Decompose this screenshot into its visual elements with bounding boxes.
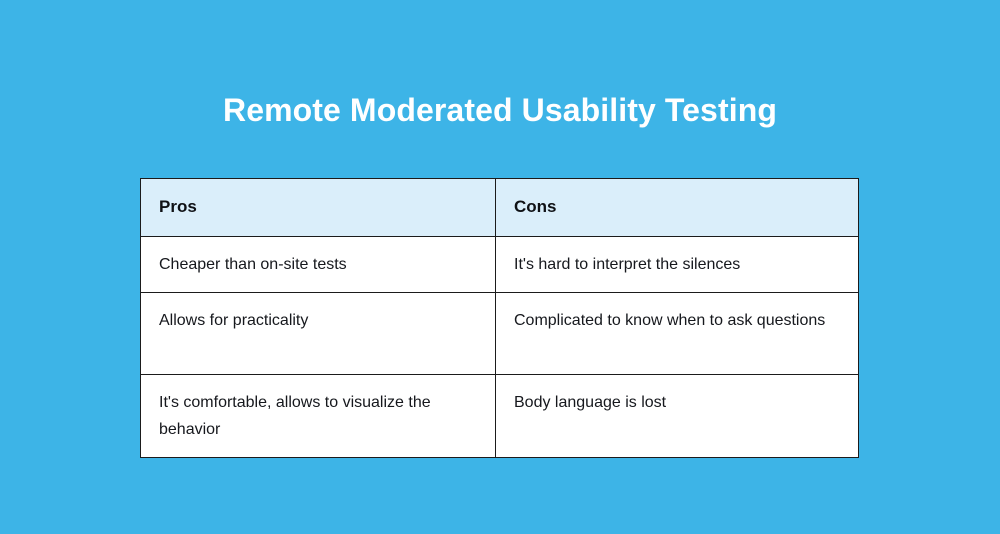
slide-canvas: Remote Moderated Usability Testing Pros …: [0, 0, 1000, 534]
table-header: Pros Cons: [141, 179, 859, 237]
table-row: Cheaper than on-site tests It's hard to …: [141, 237, 859, 293]
cell-cons: Body language is lost: [496, 375, 859, 458]
cell-pros: It's comfortable, allows to visualize th…: [141, 375, 496, 458]
cell-cons: It's hard to interpret the silences: [496, 237, 859, 293]
table-row: Allows for practicality Complicated to k…: [141, 293, 859, 375]
cell-text: It's comfortable, allows to visualize th…: [159, 389, 477, 443]
column-header-pros: Pros: [141, 179, 496, 237]
table-row: It's comfortable, allows to visualize th…: [141, 375, 859, 458]
cell-pros: Cheaper than on-site tests: [141, 237, 496, 293]
column-header-cons: Cons: [496, 179, 859, 237]
cell-text: It's hard to interpret the silences: [514, 251, 840, 278]
cell-cons: Complicated to know when to ask question…: [496, 293, 859, 375]
pros-cons-table: Pros Cons Cheaper than on-site tests It'…: [140, 178, 859, 458]
cell-text: Complicated to know when to ask question…: [514, 307, 840, 334]
cell-pros: Allows for practicality: [141, 293, 496, 375]
cell-text: Body language is lost: [514, 389, 840, 416]
page-title: Remote Moderated Usability Testing: [0, 88, 1000, 132]
cell-text: Cheaper than on-site tests: [159, 251, 477, 278]
table-header-row: Pros Cons: [141, 179, 859, 237]
table-body: Cheaper than on-site tests It's hard to …: [141, 237, 859, 458]
cell-text: Allows for practicality: [159, 307, 477, 334]
